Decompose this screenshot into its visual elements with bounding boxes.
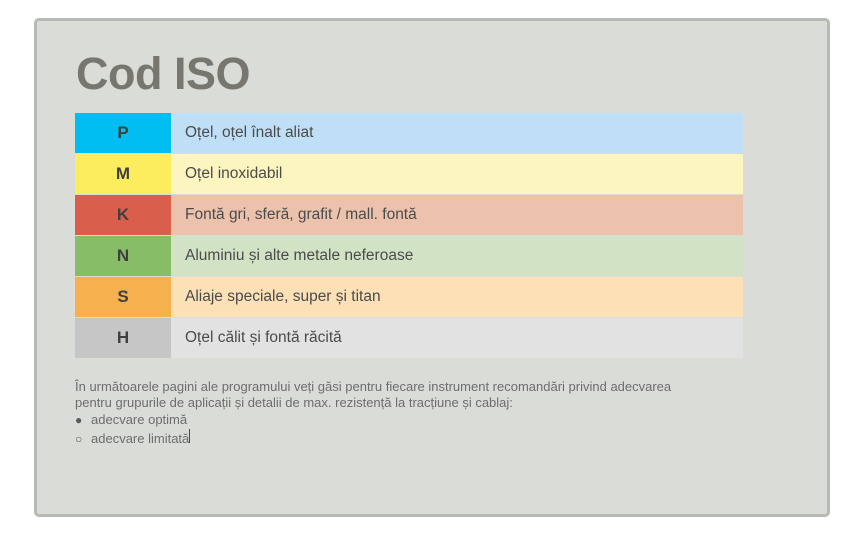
legend-row-optimal: ● adecvare optimă bbox=[75, 411, 755, 429]
iso-code-cell: P bbox=[75, 113, 171, 154]
page-title: Cod ISO bbox=[75, 51, 827, 113]
note-line-2: pentru grupurile de aplicații și detalii… bbox=[75, 395, 755, 411]
table-row: SAliaje speciale, super și titan bbox=[75, 277, 743, 318]
iso-code-cell: K bbox=[75, 195, 171, 236]
table-row: HOțel călit și fontă răcită bbox=[75, 318, 743, 359]
iso-description-cell: Aliaje speciale, super și titan bbox=[171, 277, 743, 318]
text-caret bbox=[189, 429, 190, 443]
iso-description-cell: Fontă gri, sferă, grafit / mall. fontă bbox=[171, 195, 743, 236]
iso-description-cell: Oțel călit și fontă răcită bbox=[171, 318, 743, 359]
table-row: MOțel inoxidabil bbox=[75, 154, 743, 195]
filled-circle-icon: ● bbox=[75, 412, 91, 429]
screenshot-root: Cod ISO POțel, oțel înalt aliatMOțel ino… bbox=[0, 0, 862, 537]
iso-code-cell: H bbox=[75, 318, 171, 359]
iso-code-panel: Cod ISO POțel, oțel înalt aliatMOțel ino… bbox=[34, 18, 830, 517]
legend-label-optimal: adecvare optimă bbox=[91, 411, 187, 428]
iso-description-cell: Aluminiu și alte metale neferoase bbox=[171, 236, 743, 277]
hollow-circle-icon: ○ bbox=[75, 431, 91, 448]
iso-description-cell: Oțel inoxidabil bbox=[171, 154, 743, 195]
iso-description-cell: Oțel, oțel înalt aliat bbox=[171, 113, 743, 154]
iso-code-cell: N bbox=[75, 236, 171, 277]
legend-label-limited: adecvare limitată bbox=[91, 430, 189, 447]
legend-row-limited: ○ adecvare limitată bbox=[75, 429, 755, 448]
iso-code-table: POțel, oțel înalt aliatMOțel inoxidabilK… bbox=[75, 113, 743, 359]
note-block: În următoarele pagini ale programului ve… bbox=[75, 379, 755, 448]
panel-content: Cod ISO POțel, oțel înalt aliatMOțel ino… bbox=[75, 51, 827, 514]
table-row: KFontă gri, sferă, grafit / mall. fontă bbox=[75, 195, 743, 236]
iso-table-body: POțel, oțel înalt aliatMOțel inoxidabilK… bbox=[75, 113, 743, 359]
table-row: POțel, oțel înalt aliat bbox=[75, 113, 743, 154]
iso-code-cell: M bbox=[75, 154, 171, 195]
iso-code-cell: S bbox=[75, 277, 171, 318]
table-row: NAluminiu și alte metale neferoase bbox=[75, 236, 743, 277]
note-line-1: În următoarele pagini ale programului ve… bbox=[75, 379, 755, 395]
